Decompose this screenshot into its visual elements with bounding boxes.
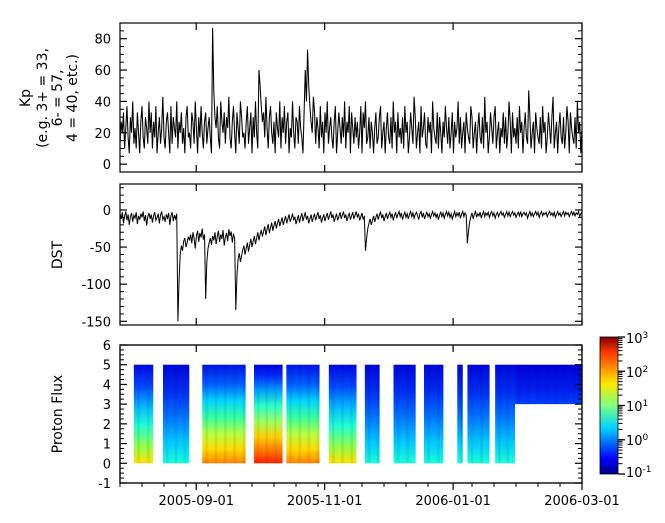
- flux-column-stripe: [350, 365, 353, 464]
- flux-ytick-label: 6: [103, 339, 111, 354]
- flux-column-stripe: [460, 365, 462, 464]
- flux-column-stripe: [265, 365, 268, 464]
- flux-column-stripe: [257, 365, 260, 464]
- flux-column-stripe: [215, 365, 218, 464]
- flux-column-stripe: [471, 365, 474, 464]
- flux-column-stripe: [233, 365, 236, 464]
- dst-ytick-label: -50: [90, 241, 111, 256]
- flux-ytick-label: 3: [103, 398, 111, 413]
- kp-ytick-label: 20: [94, 127, 111, 142]
- flux-column-stripe: [341, 365, 344, 464]
- panel-dst: 0-50-100-150 DST: [50, 184, 582, 330]
- kp-ytick-label: 0: [103, 158, 111, 173]
- flux-ytick-label: 1: [103, 438, 111, 453]
- flux-ytick-label: -1: [98, 477, 111, 492]
- x-tick-label: 2005-11-01: [287, 494, 363, 509]
- kp-label-line1: Kp: [18, 89, 34, 107]
- x-tick-label: 2006-03-01: [544, 494, 620, 509]
- kp-label-line2: (e.g. 3+ = 33,: [35, 48, 51, 148]
- kp-label-line4: 4 = 40, etc.): [65, 54, 81, 142]
- flux-column-stripe: [147, 365, 150, 464]
- kp-ytick-label: 80: [94, 33, 111, 48]
- x-tick-label: 2006-01-01: [415, 494, 491, 509]
- flux-column-stripe: [183, 365, 186, 464]
- flux-column-stripe: [175, 365, 178, 464]
- multi-panel-plot: 020406080 Kp (e.g. 3+ = 33, 6- = 57, 4 =…: [0, 0, 665, 523]
- flux-column-stripe: [555, 365, 558, 404]
- flux-column-stripe: [317, 365, 320, 464]
- flux-column-stripe: [137, 365, 140, 464]
- flux-column-stripe: [377, 365, 380, 464]
- dst-plot-frame: [120, 184, 582, 325]
- flux-ytick-label: 5: [103, 359, 111, 374]
- flux-ytick-label: 0: [103, 457, 111, 472]
- kp-label-line3: 6- = 57,: [50, 70, 66, 127]
- flux-column-stripe: [243, 365, 246, 464]
- flux-column-stripe: [406, 365, 409, 464]
- panel-proton-flux: 6543210-1 2005-09-012005-11-012006-01-01…: [50, 339, 620, 509]
- flux-column-stripe: [427, 365, 430, 464]
- flux-segment: [134, 365, 153, 464]
- flux-segment: [424, 365, 443, 464]
- kp-ytick-label: 60: [94, 64, 111, 79]
- flux-column-stripe: [307, 365, 310, 464]
- flux-column-stripe: [545, 365, 548, 404]
- flux-column-stripe: [298, 365, 301, 464]
- flux-column-stripe: [289, 365, 292, 464]
- dst-ytick-label: -100: [81, 278, 111, 293]
- flux-column-stripe: [518, 365, 521, 404]
- dst-axis-label: DST: [50, 240, 66, 269]
- flux-axis-label: Proton Flux: [50, 375, 66, 454]
- flux-segment: [515, 365, 582, 404]
- flux-ytick-label: 4: [103, 378, 111, 393]
- flux-column-stripe: [480, 365, 483, 464]
- flux-column-stripe: [205, 365, 208, 464]
- flux-ytick-label: 2: [103, 418, 111, 433]
- flux-column-stripe: [224, 365, 227, 464]
- flux-column-stripe: [527, 365, 530, 404]
- dst-ytick-label: -150: [81, 315, 111, 330]
- flux-column-stripe: [437, 365, 440, 464]
- flux-column-stripe: [564, 365, 567, 404]
- figure-root: 020406080 Kp (e.g. 3+ = 33, 6- = 57, 4 =…: [0, 0, 665, 523]
- flux-column-stripe: [368, 365, 371, 464]
- colorbar-gradient: [600, 337, 618, 474]
- flux-column-stripe: [166, 365, 169, 464]
- flux-column-stripe: [397, 365, 400, 464]
- flux-column-stripe: [274, 365, 277, 464]
- x-tick-label: 2005-09-01: [158, 494, 234, 509]
- dst-ytick-label: 0: [103, 204, 111, 219]
- flux-column-stripe: [536, 365, 539, 404]
- flux-column-stripe: [498, 365, 501, 464]
- flux-column-stripe: [507, 365, 510, 464]
- flux-column-stripe: [332, 365, 335, 464]
- kp-ytick-label: 40: [94, 95, 111, 110]
